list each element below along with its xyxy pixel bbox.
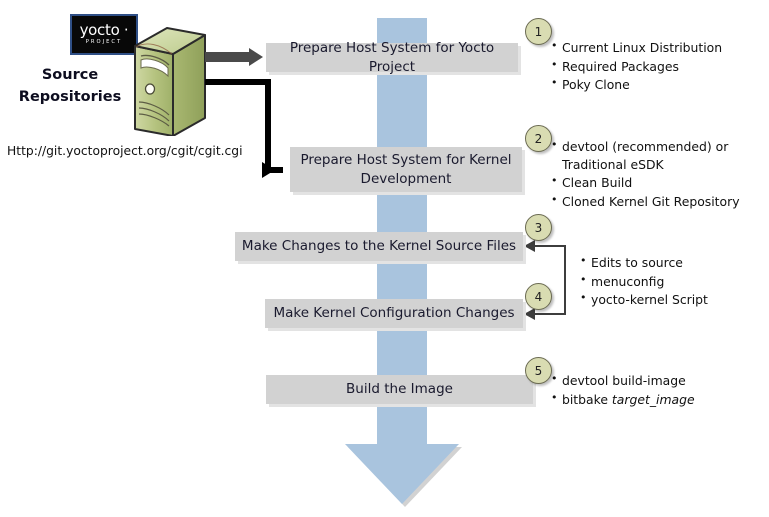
notes-steps-3-4: Edits to source menuconfig yocto-kernel … [580,254,760,310]
step-number-2: 2 [525,125,552,152]
notes-step2: devtool (recommended) or Traditional eSD… [551,138,761,211]
step-number-4: 4 [525,283,552,310]
bitbake-command: bitbake [562,392,612,407]
step-number-5: 5 [525,357,552,384]
list-item: bitbake target_image [551,391,756,409]
server-icon [132,26,208,136]
list-item: Cloned Kernel Git Repository [551,193,761,211]
step-number-1: 1 [525,18,552,45]
diagram-canvas: yocto · PROJECT [0,0,769,517]
arrowhead-step2 [262,162,275,178]
source-repository-url: Http://git.yoctoproject.org/cgit/cgit.cg… [7,144,243,158]
list-item: Poky Clone [551,76,766,94]
list-item: devtool (recommended) or Traditional eSD… [551,138,761,173]
list-item: devtool build-image [551,372,756,390]
list-item: yocto-kernel Script [580,291,760,309]
process-box-step3[interactable]: Make Changes to the Kernel Source Files [235,232,523,261]
bracket-vertical [564,245,566,315]
process-box-step4[interactable]: Make Kernel Configuration Changes [265,299,523,328]
process-box-step2[interactable]: Prepare Host System for Kernel Developme… [290,147,522,192]
bitbake-target-italic: target_image [612,392,695,407]
connector-server-to-step1 [205,52,251,62]
notes-step1: Current Linux Distribution Required Pack… [551,39,766,95]
bracket-arm-step4 [534,313,565,315]
logo-subtitle: PROJECT [86,40,122,45]
process-box-step5[interactable]: Build the Image [266,375,533,404]
source-label-line1: Source [8,64,132,86]
arrowhead-step3 [524,240,535,252]
list-item: Clean Build [551,174,761,192]
process-box-step1[interactable]: Prepare Host System for Yocto Project [266,43,518,72]
list-item: Current Linux Distribution [551,39,766,57]
yocto-project-logo: yocto · PROJECT [70,14,138,55]
bracket-arm-step3 [534,245,565,247]
logo-wordmark: yocto · [80,23,129,38]
list-item: menuconfig [580,273,760,291]
list-item: Required Packages [551,58,766,76]
connector-server-to-step2-vertical [265,79,271,173]
list-item: Edits to source [580,254,760,272]
step-number-3: 3 [525,214,552,241]
source-repositories-label: Source Repositories [8,64,132,109]
source-label-line2: Repositories [8,86,132,108]
arrowhead-step4 [524,308,535,320]
connector-server-to-step2-horizontal [205,79,271,85]
flow-arrow-head [345,444,459,504]
arrowhead-step1 [249,48,263,66]
notes-step5: devtool build-image bitbake target_image [551,372,756,409]
